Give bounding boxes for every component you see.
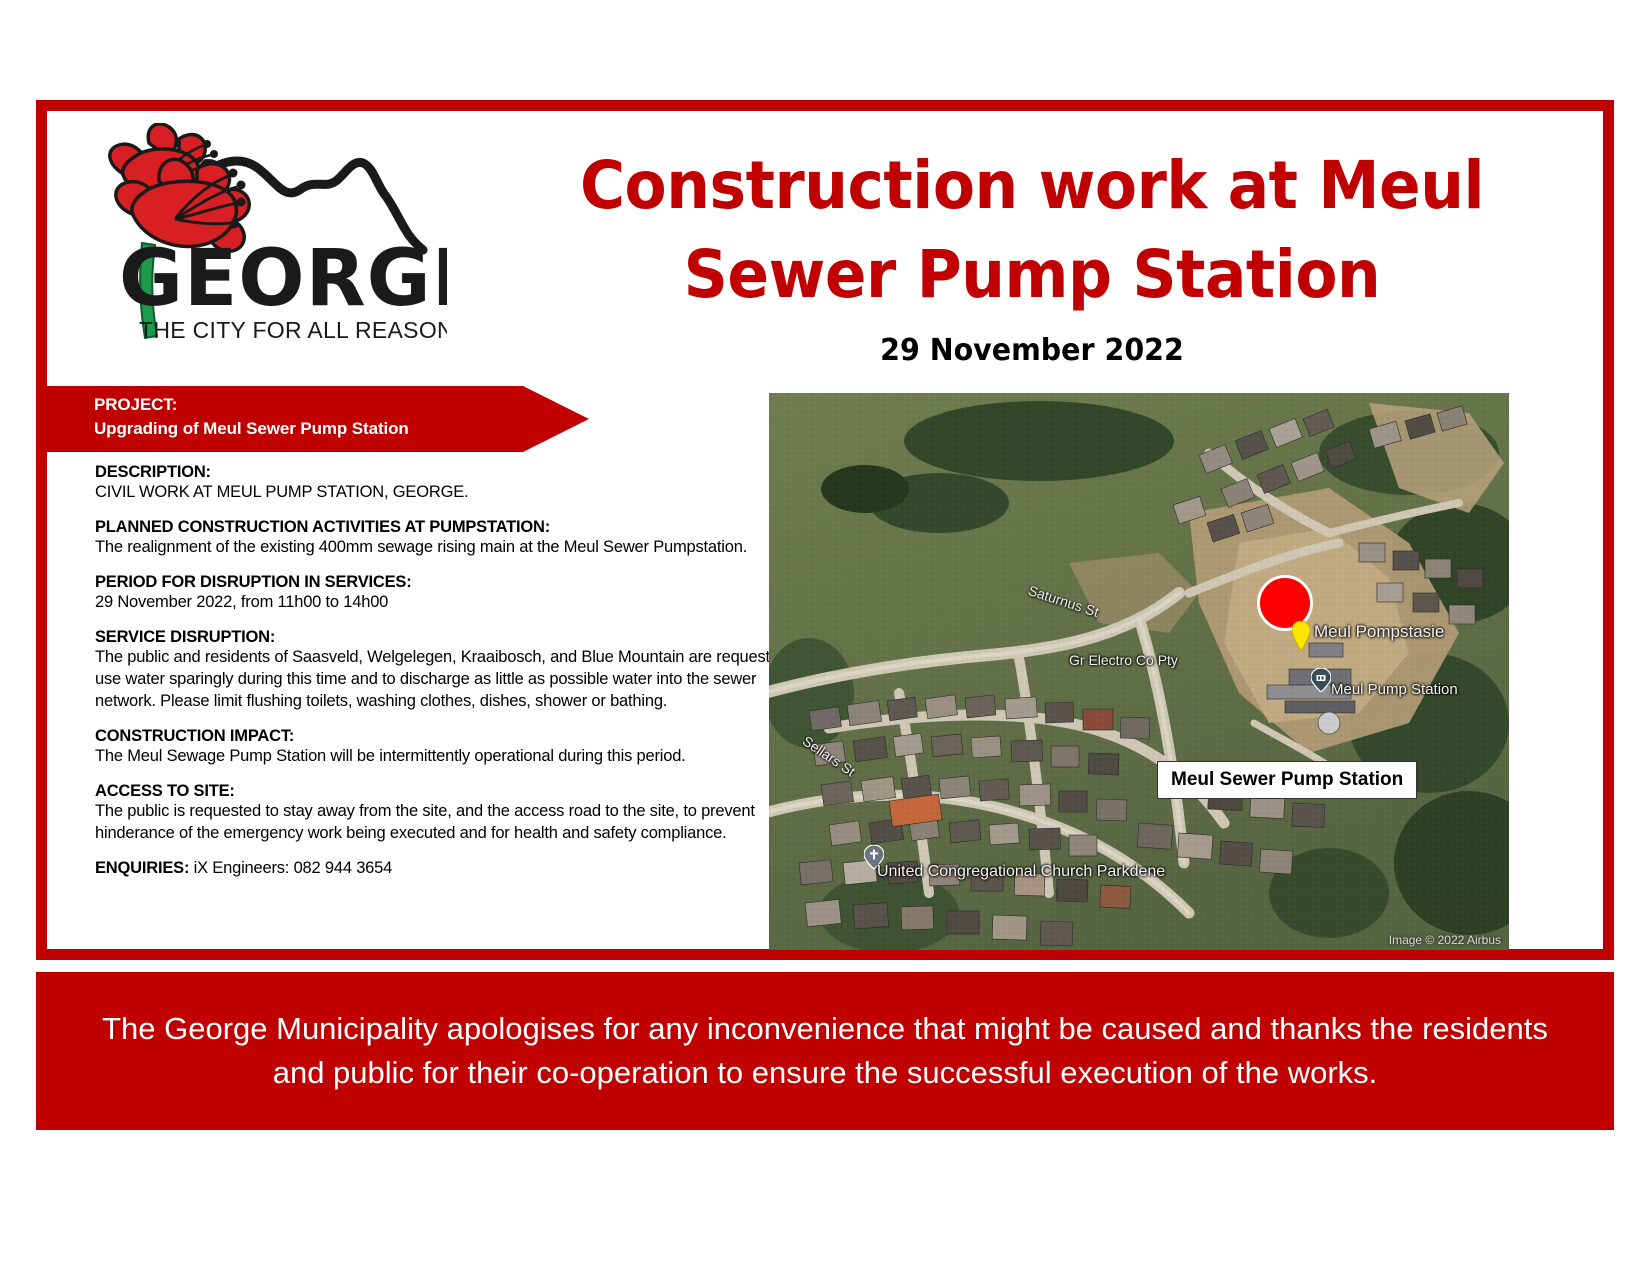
section-heading: DESCRIPTION: [95,463,813,482]
apology-footer: The George Municipality apologises for a… [36,972,1614,1130]
section-construction-impact: CONSTRUCTION IMPACT: The Meul Sewage Pum… [95,727,813,768]
poster-header: GEORGE THE CITY FOR ALL REASONS Construc… [47,111,1603,383]
project-banner-value: Upgrading of Meul Sewer Pump Station [94,417,589,441]
section-body: The public and residents of Saasveld, We… [95,647,813,713]
poster-frame: GEORGE THE CITY FOR ALL REASONS Construc… [36,100,1614,960]
section-planned-activities: PLANNED CONSTRUCTION ACTIVITIES AT PUMPS… [95,518,813,559]
section-body: The Meul Sewage Pump Station will be int… [95,746,813,768]
factory-icon-svg [1311,668,1331,692]
page-date: 29 November 2022 [514,333,1550,368]
page-title-line1: Construction work at Meul [525,141,1539,230]
church-icon-svg [864,845,884,869]
section-period: PERIOD FOR DISRUPTION IN SERVICES: 29 No… [95,573,813,614]
section-description: DESCRIPTION: CIVIL WORK AT MEUL PUMP STA… [95,463,813,504]
section-heading: PLANNED CONSTRUCTION ACTIVITIES AT PUMPS… [95,518,813,537]
map-callout-meul-sewer-pump-station: Meul Sewer Pump Station [1157,761,1417,799]
footer-text: The George Municipality apologises for a… [84,1007,1566,1095]
title-block: Construction work at Meul Sewer Pump Sta… [487,141,1577,368]
enquiries-heading: ENQUIRIES: [95,859,189,877]
section-access-to-site: ACCESS TO SITE: The public is requested … [95,782,813,845]
section-body: The realignment of the existing 400mm se… [95,537,813,559]
section-service-disruption: SERVICE DISRUPTION: The public and resid… [95,628,813,713]
section-heading: PERIOD FOR DISRUPTION IN SERVICES: [95,573,813,592]
page-title-line2: Sewer Pump Station [525,230,1539,319]
section-body: 29 November 2022, from 11h00 to 14h00 [95,592,813,614]
factory-icon [1311,668,1331,692]
project-banner: PROJECT: Upgrading of Meul Sewer Pump St… [36,386,589,452]
project-banner-label: PROJECT: [94,393,589,417]
map-pin-icon [1292,621,1310,651]
section-enquiries: ENQUIRIES: iX Engineers: 082 944 3654 [95,858,813,880]
george-logo: GEORGE THE CITY FOR ALL REASONS [87,123,447,363]
section-body: The public is requested to stay away fro… [95,801,813,845]
site-location-map[interactable]: Meul Pompstasie Meul Pump Station United… [769,393,1509,950]
section-heading: CONSTRUCTION IMPACT: [95,727,813,746]
map-pin-svg [1292,621,1310,651]
church-icon [864,845,884,869]
logo-wordmark: GEORGE [119,234,447,324]
section-heading: ACCESS TO SITE: [95,782,813,801]
enquiries-body: iX Engineers: 082 944 3654 [189,859,392,877]
george-logo-svg: GEORGE THE CITY FOR ALL REASONS [87,123,447,363]
map-attribution: Image © 2022 Airbus [1389,933,1501,947]
logo-tagline: THE CITY FOR ALL REASONS [139,317,447,343]
section-body: CIVIL WORK AT MEUL PUMP STATION, GEORGE. [95,482,813,504]
section-heading: SERVICE DISRUPTION: [95,628,813,647]
body-text-column: DESCRIPTION: CIVIL WORK AT MEUL PUMP STA… [95,463,813,894]
